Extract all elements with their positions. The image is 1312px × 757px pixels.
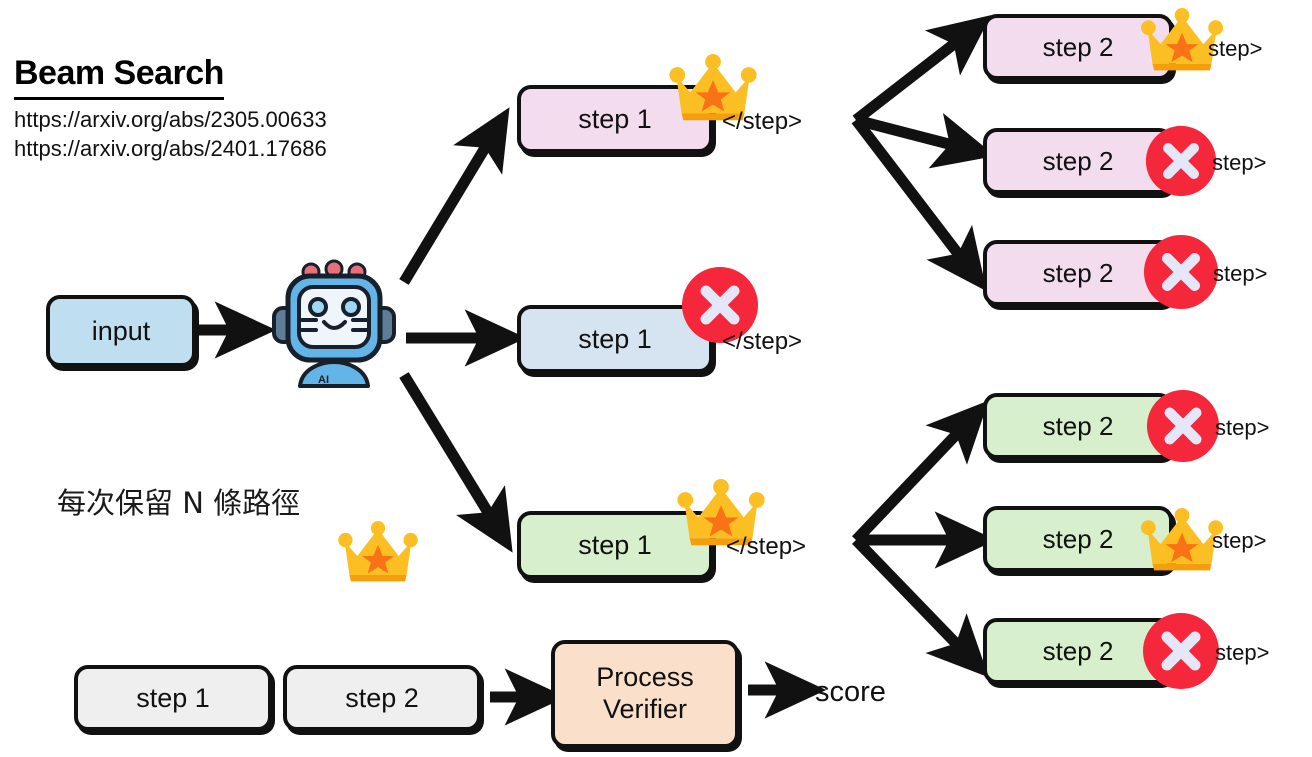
step1-node-pink[interactable]: step 1 [517,85,713,153]
step-close-tag: step> [1208,36,1262,62]
url-link-2[interactable]: https://arxiv.org/abs/2401.17686 [14,135,434,163]
step2-node-pink-3-label: step 2 [1043,258,1114,289]
step2-node-pink-2[interactable]: step 2 [983,128,1173,194]
step-close-tag: step> [1212,528,1266,554]
step-close-tag: step> [1212,150,1266,176]
arrow-fan-bottom-3 [856,540,972,660]
step1-node-blue[interactable]: step 1 [517,305,713,373]
step2-node-green-2-label: step 2 [1043,524,1114,555]
title-block: Beam Search https://arxiv.org/abs/2305.0… [14,55,434,163]
step2-node-green-3-label: step 2 [1043,636,1114,667]
step2-node-pink-1[interactable]: step 2 [983,14,1173,80]
step-close-tag: </step> [726,533,806,561]
step2-node-pink-2-label: step 2 [1043,146,1114,177]
step2-node-green-1[interactable]: step 2 [983,393,1173,459]
beam-search-diagram: Beam Search https://arxiv.org/abs/2305.0… [0,0,1312,757]
step2-node-green-3[interactable]: step 2 [983,618,1173,684]
svg-text:AI: AI [318,374,329,386]
page-title: Beam Search [14,55,224,100]
step2-node-pink-1-label: step 2 [1043,32,1114,63]
arrow-fan-top-2 [856,120,972,150]
step-close-tag: step> [1215,640,1269,666]
verifier-step2-label: step 2 [345,683,419,714]
process-verifier-node[interactable]: Process Verifier [551,640,739,748]
arrow-fan-top-3 [856,120,972,272]
input-node-label: input [92,316,151,347]
step1-node-blue-label: step 1 [578,324,652,355]
step2-node-green-1-label: step 2 [1043,411,1114,442]
step2-node-green-2[interactable]: step 2 [983,506,1173,572]
verifier-step1-node[interactable]: step 1 [74,665,272,731]
step1-node-green-label: step 1 [578,530,652,561]
step1-node-green[interactable]: step 1 [517,511,713,579]
ai-robot-icon: AI [268,258,400,395]
arrow-fan-bottom-1 [856,418,972,540]
step-close-tag: </step> [722,328,802,356]
process-verifier-line1: Process [596,662,694,694]
verifier-step1-label: step 1 [136,683,210,714]
crown-icon [338,521,418,583]
score-label: score [815,676,886,709]
step1-node-pink-label: step 1 [578,104,652,135]
step-close-tag: step> [1213,261,1267,287]
arrow-fan-top-1 [856,30,972,120]
verifier-step2-node[interactable]: step 2 [283,665,481,731]
arrow-robot-to-step1-green [404,375,500,532]
step-close-tag: </step> [722,108,802,136]
url-link-1[interactable]: https://arxiv.org/abs/2305.00633 [14,106,434,134]
step-close-tag: step> [1215,415,1269,441]
caption-chinese: 每次保留 N 條路徑 [57,480,300,522]
step2-node-pink-3[interactable]: step 2 [983,240,1173,306]
input-node[interactable]: input [46,295,196,367]
url-list: https://arxiv.org/abs/2305.00633 https:/… [14,106,434,162]
process-verifier-line2: Verifier [603,694,687,726]
